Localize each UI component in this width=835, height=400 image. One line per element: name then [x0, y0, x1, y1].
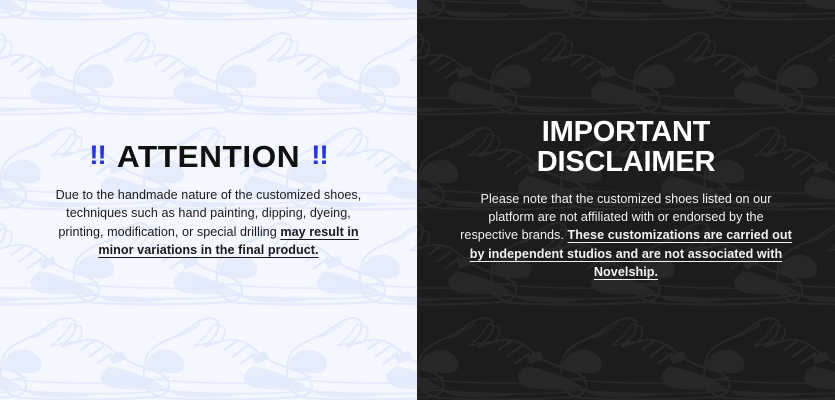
attention-heading-text: ATTENTION — [117, 141, 300, 172]
double-exclamation-left-icon: !! — [89, 142, 105, 169]
double-exclamation-right-icon: !! — [311, 142, 327, 169]
disclaimer-body: Please note that the customized shoes li… — [458, 190, 794, 282]
customization-disclaimer-banner: !! ATTENTION !! Due to the handmade natu… — [0, 0, 835, 400]
disclaimer-content: IMPORTANT DISCLAIMER Please note that th… — [417, 118, 835, 281]
attention-panel: !! ATTENTION !! Due to the handmade natu… — [0, 0, 417, 400]
attention-body: Due to the handmade nature of the custom… — [48, 186, 370, 260]
attention-heading: !! ATTENTION !! — [22, 141, 394, 172]
disclaimer-heading-line-1: IMPORTANT — [443, 118, 809, 148]
attention-content: !! ATTENTION !! Due to the handmade natu… — [0, 141, 417, 260]
disclaimer-panel: IMPORTANT DISCLAIMER Please note that th… — [417, 0, 835, 400]
disclaimer-heading: IMPORTANT DISCLAIMER — [443, 118, 809, 177]
disclaimer-heading-line-2: DISCLAIMER — [443, 148, 809, 178]
